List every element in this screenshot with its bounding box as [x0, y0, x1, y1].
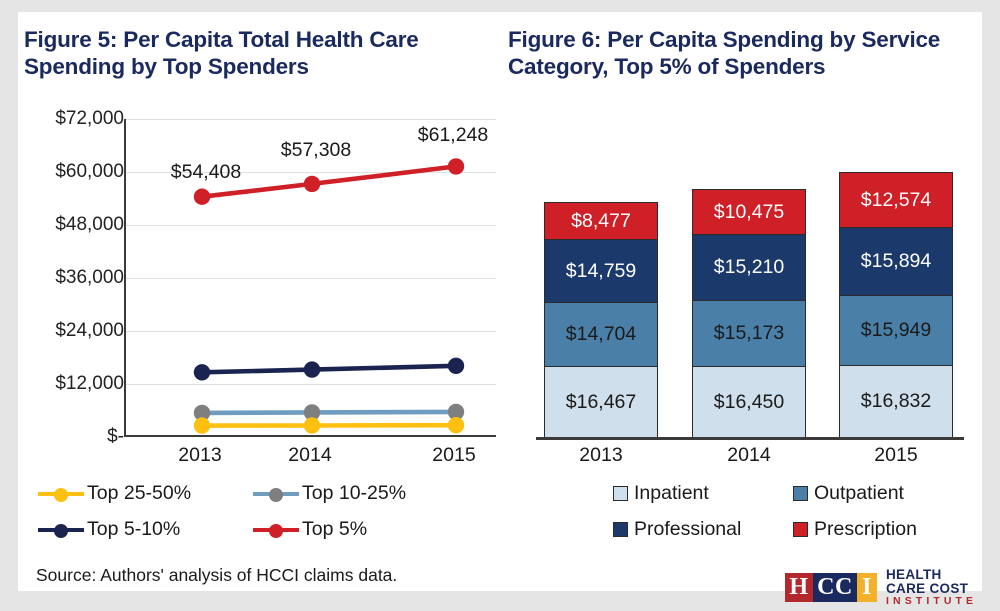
line-marker-icon [38, 522, 84, 538]
legend-label: Top 10-25% [302, 482, 406, 505]
y-tick-60000: $60,000 [55, 161, 124, 183]
legend-item-professional[interactable]: Professional [613, 518, 793, 541]
bar-segment-prescription: $12,574 [839, 172, 953, 228]
logo-letter-h: H [785, 573, 813, 602]
y-tick-48000: $48,000 [55, 214, 124, 236]
swatch-icon [793, 522, 808, 537]
line-marker-icon [253, 522, 299, 538]
bar-value-label: $15,210 [714, 256, 785, 279]
bar-segment-professional: $14,759 [544, 239, 658, 304]
data-label-2013-top5: $54,408 [171, 161, 242, 184]
bar-segment-outpatient: $14,704 [544, 302, 658, 367]
legend-item-top-25-50[interactable]: Top 25-50% [38, 482, 253, 505]
legend-label: Top 5-10% [87, 518, 180, 541]
bar-segment-prescription: $8,477 [544, 202, 658, 240]
logo-letter-cc: CC [813, 573, 857, 602]
legend-item-inpatient[interactable]: Inpatient [613, 482, 793, 505]
figure-card: Figure 5: Per Capita Total Health Care S… [18, 12, 982, 591]
bar-value-label: $8,477 [571, 210, 631, 233]
bar-segment-prescription: $10,475 [692, 189, 806, 235]
swatch-icon [793, 486, 808, 501]
logo-line-2: INSTITUTE [886, 596, 982, 607]
legend-label: Top 5% [302, 518, 367, 541]
legend-label: Inpatient [634, 482, 709, 505]
legend-item-outpatient[interactable]: Outpatient [793, 482, 973, 505]
source-note: Source: Authors' analysis of HCCI claims… [36, 565, 397, 586]
legend-label: Prescription [814, 518, 917, 541]
legend-item-top-5[interactable]: Top 5% [253, 518, 468, 541]
bar-segment-professional: $15,894 [839, 227, 953, 297]
legend-label: Top 25-50% [87, 482, 191, 505]
swatch-icon [613, 522, 628, 537]
bar-value-label: $12,574 [861, 189, 932, 212]
hcci-logo-mark: H CC I [785, 573, 877, 602]
data-label-2014-top5: $57,308 [281, 139, 352, 162]
figure5-chart: $72,000 $60,000 $48,000 $36,000 $24,000 … [18, 102, 518, 462]
bar-2014[interactable]: $10,475 $15,210 $15,173 $16,450 [692, 189, 806, 437]
bar-segment-outpatient: $15,173 [692, 300, 806, 367]
legend-label: Outpatient [814, 482, 904, 505]
bar-2013[interactable]: $8,477 $14,759 $14,704 $16,467 [544, 202, 658, 437]
logo-line-1: HEALTH CARE COST [886, 568, 982, 596]
bar-segment-outpatient: $15,949 [839, 295, 953, 366]
figure5-x-tick-2013: 2013 [178, 444, 221, 467]
legend-item-prescription[interactable]: Prescription [793, 518, 973, 541]
figure6-legend: Inpatient Outpatient Professional Prescr… [613, 482, 973, 541]
figure5-title: Figure 5: Per Capita Total Health Care S… [24, 26, 464, 80]
y-tick-0: $- [107, 426, 124, 448]
y-tick-36000: $36,000 [55, 267, 124, 289]
bar-value-label: $15,949 [861, 319, 932, 342]
figure6-title: Figure 6: Per Capita Spending by Service… [508, 26, 968, 80]
figure6-x-tick-2013: 2013 [579, 444, 622, 467]
swatch-icon [613, 486, 628, 501]
bar-segment-inpatient: $16,450 [692, 366, 806, 439]
figure-page: Figure 5: Per Capita Total Health Care S… [0, 0, 1000, 611]
figure5-plot-area: $54,408 $57,308 $61,248 [124, 119, 496, 437]
bar-value-label: $16,467 [566, 391, 637, 414]
line-marker-icon [38, 486, 84, 502]
figure6-x-tick-2015: 2015 [874, 444, 917, 467]
bar-value-label: $15,173 [714, 322, 785, 345]
bar-segment-inpatient: $16,832 [839, 365, 953, 439]
legend-label: Professional [634, 518, 741, 541]
bar-value-label: $15,894 [861, 250, 932, 273]
figure6-x-tick-2014: 2014 [727, 444, 770, 467]
bar-value-label: $10,475 [714, 201, 785, 224]
bar-value-label: $16,450 [714, 391, 785, 414]
bar-2015[interactable]: $12,574 $15,894 $15,949 $16,832 [839, 172, 953, 437]
figure6-chart: $8,477 $14,759 $14,704 $16,467 $10,475 [518, 102, 982, 462]
y-tick-24000: $24,000 [55, 320, 124, 342]
hcci-logo: H CC I HEALTH CARE COST INSTITUTE [785, 568, 982, 607]
y-tick-72000: $72,000 [55, 108, 124, 130]
data-label-2015-top5: $61,248 [418, 124, 489, 147]
legend-item-top-5-10[interactable]: Top 5-10% [38, 518, 253, 541]
bar-segment-inpatient: $16,467 [544, 366, 658, 439]
bar-segment-professional: $15,210 [692, 234, 806, 302]
figure5-x-tick-2014: 2014 [288, 444, 331, 467]
figure5-x-tick-2015: 2015 [432, 444, 475, 467]
figure5-legend: Top 25-50% Top 10-25% Top 5-10% [38, 482, 498, 541]
bar-value-label: $16,832 [861, 390, 932, 413]
bar-value-label: $14,704 [566, 323, 637, 346]
line-marker-icon [253, 486, 299, 502]
hcci-logo-text: HEALTH CARE COST INSTITUTE [886, 568, 982, 607]
y-tick-12000: $12,000 [55, 373, 124, 395]
logo-letter-i: I [857, 573, 877, 602]
legend-item-top-10-25[interactable]: Top 10-25% [253, 482, 468, 505]
figure6-baseline [536, 437, 964, 440]
bar-value-label: $14,759 [566, 260, 637, 283]
